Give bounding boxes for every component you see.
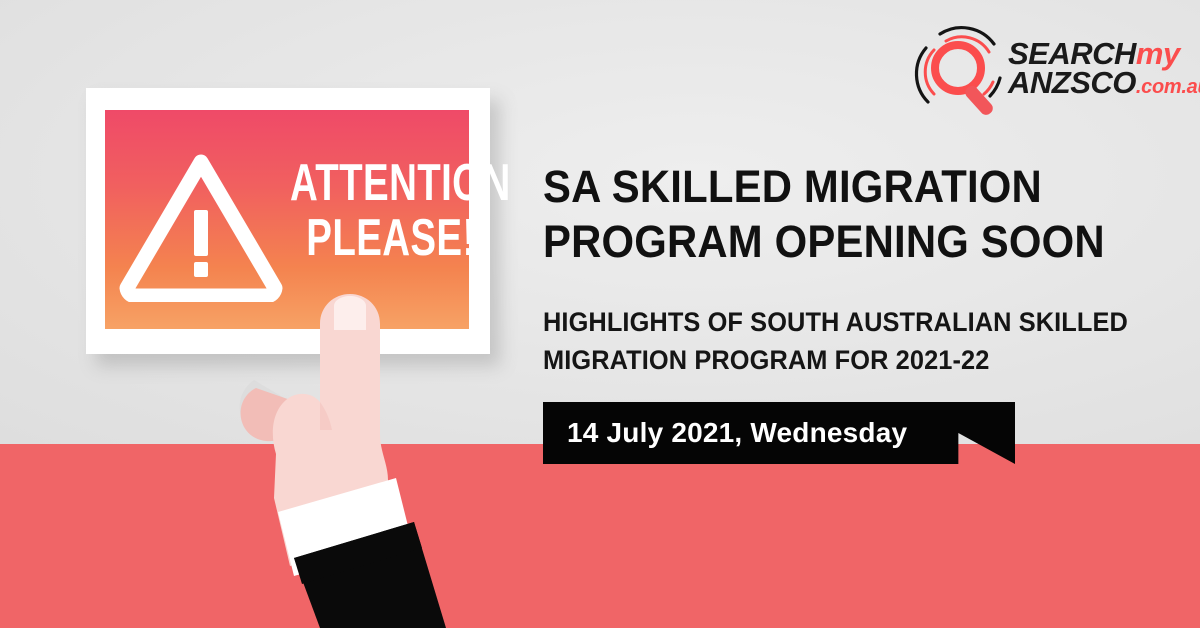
logo-my-text: my — [1136, 36, 1180, 71]
headline-line2: PROGRAM OPENING SOON — [543, 215, 1138, 270]
subhead-line1: HIGHLIGHTS OF SOUTH AUSTRALIAN SKILLED — [543, 303, 1145, 341]
logo-wordmark: SEARCHmy ANZSCO.com.au — [1008, 40, 1194, 97]
promo-banner: ATTENTION PLEASE! — [0, 0, 1200, 628]
page-title: SA SKILLED MIGRATION PROGRAM OPENING SOO… — [543, 160, 1183, 270]
headline-line1: SA SKILLED MIGRATION — [543, 160, 1138, 215]
background-bottom-coral — [0, 444, 1200, 628]
site-logo[interactable]: SEARCHmy ANZSCO.com.au — [910, 18, 1190, 122]
pointing-finger-icon — [216, 284, 446, 628]
warning-triangle-icon — [119, 152, 283, 302]
sign-text-line2: PLEASE! — [290, 213, 445, 264]
subhead-line2: MIGRATION PROGRAM FOR 2021-22 — [543, 341, 1145, 379]
page-subtitle: HIGHLIGHTS OF SOUTH AUSTRALIAN SKILLED M… — [543, 303, 1183, 380]
logo-anzsco-text: ANZSCO — [1008, 65, 1136, 100]
magnifying-glass-icon — [910, 18, 1014, 122]
date-ribbon-label: 14 July 2021, Wednesday — [567, 402, 907, 464]
sign-text: ATTENTION PLEASE! — [290, 158, 500, 264]
logo-domain-text: .com.au — [1136, 76, 1200, 98]
sign-text-line1: ATTENTION — [290, 158, 445, 209]
